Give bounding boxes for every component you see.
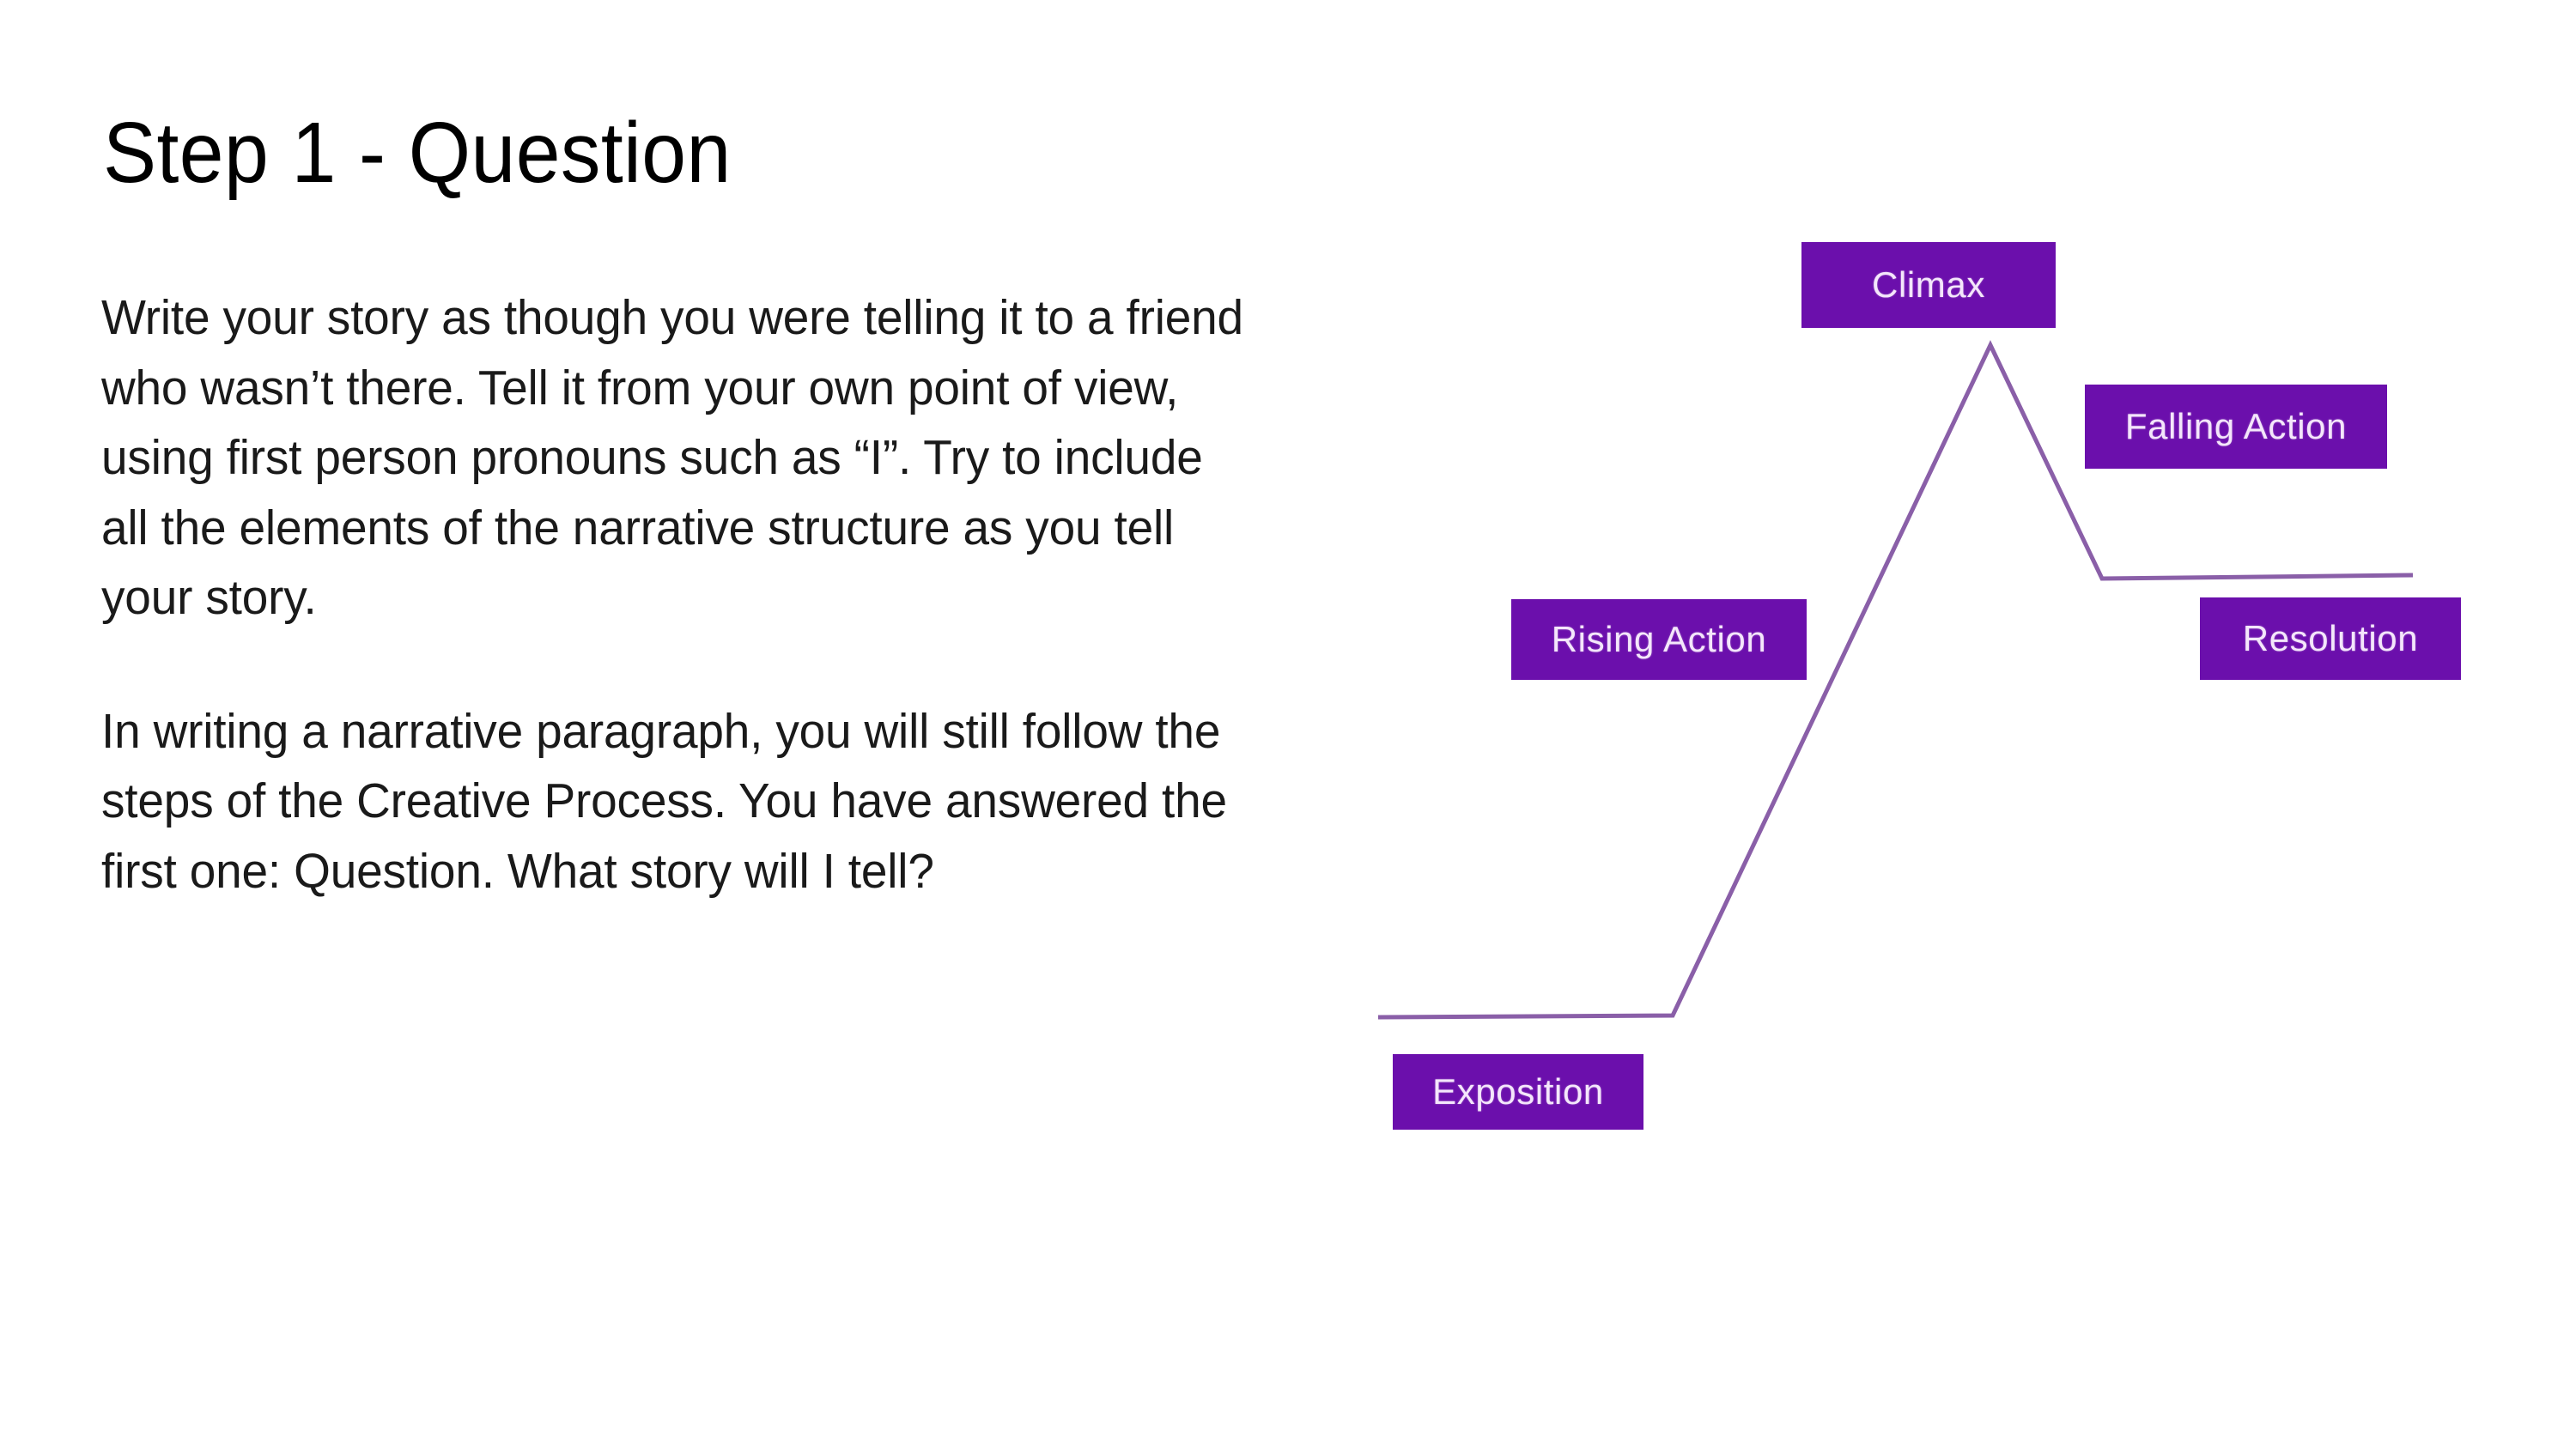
body-text-block: Write your story as though you were tell… [101, 283, 1303, 906]
plot-arc-line [1340, 215, 2524, 1176]
plot-label-climax: Climax [1801, 242, 2056, 328]
plot-label-falling-action: Falling Action [2085, 385, 2387, 469]
body-paragraph-1: Write your story as though you were tell… [101, 283, 1261, 634]
plot-label-resolution: Resolution [2200, 597, 2461, 680]
plot-label-exposition: Exposition [1393, 1054, 1643, 1130]
body-paragraph-2: In writing a narrative paragraph, you wi… [101, 697, 1261, 907]
narrative-structure-plot-diagram: Exposition Rising Action Climax Falling … [1340, 215, 2524, 1176]
slide: Step 1 - Question Write your story as th… [0, 0, 2576, 1449]
page-title: Step 1 - Question [103, 110, 1301, 196]
plot-label-rising-action: Rising Action [1511, 599, 1807, 680]
